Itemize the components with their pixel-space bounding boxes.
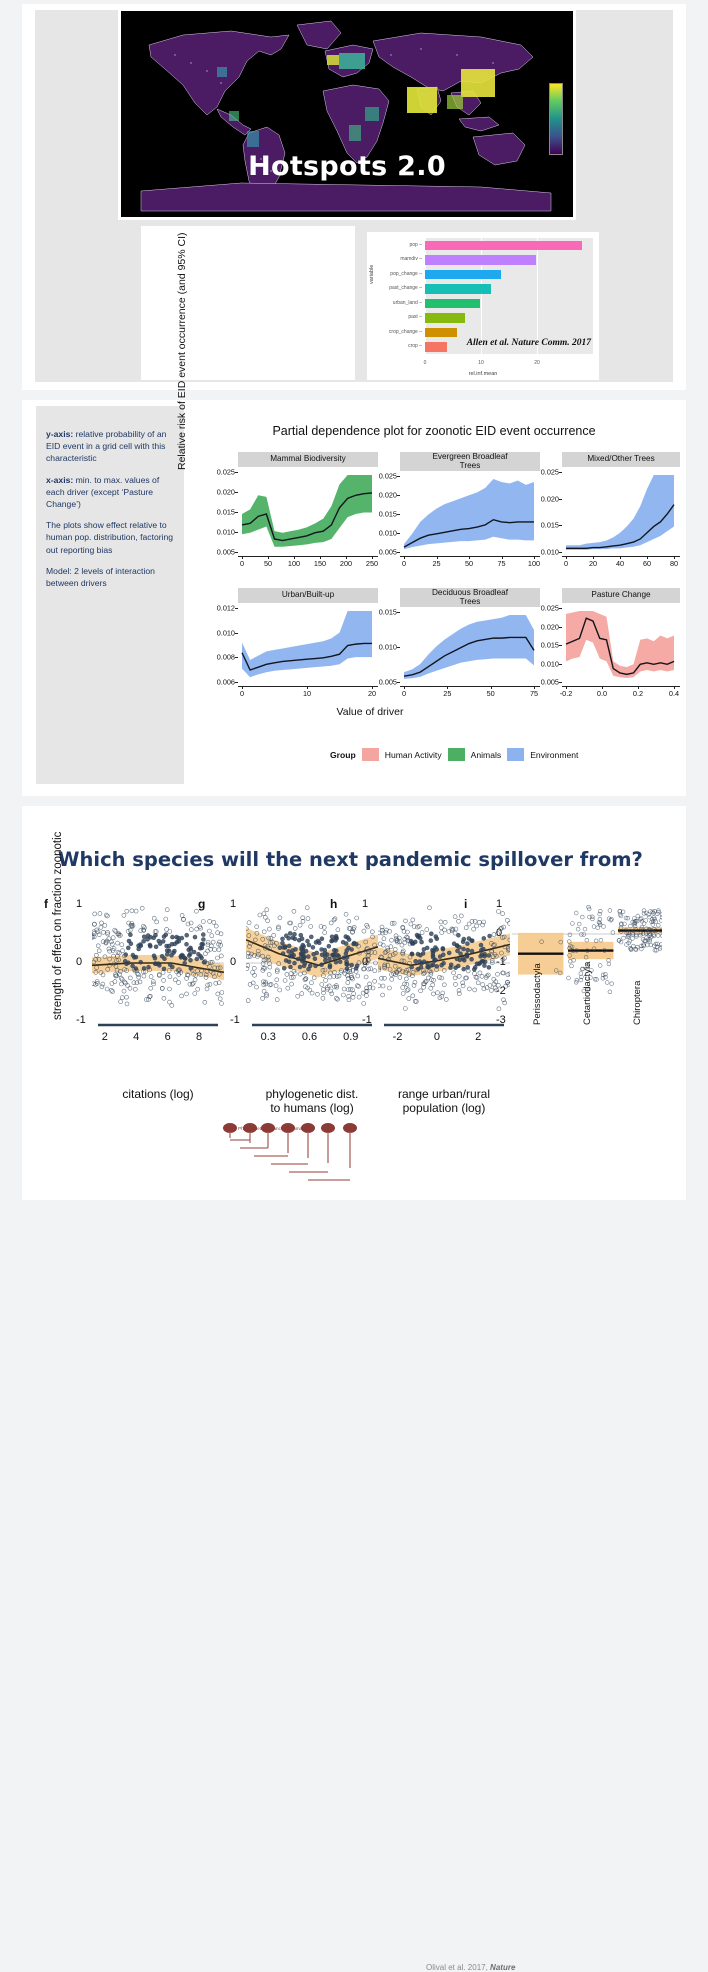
facet-curve [400,471,540,557]
bar-chart-row: past_change – [425,284,593,294]
bar-chart-plot-area: pop –mamdiv –pop_change –past_change –ur… [425,238,593,354]
facet-y-tick: 0.020 [541,622,559,631]
taxon-label: Cetartiodactyla [582,962,593,1025]
facet-y-tick: 0.010 [379,643,397,652]
facet-y-tick: 0.025 [541,604,559,613]
facet-y-tick: 0.015 [541,641,559,650]
influence-table-wrapper: relative influence (%) std. dev. populat… [141,226,355,380]
bar-chart-x-tick: 10 [478,360,484,366]
slide1-citation: Allen et al. Nature Comm. 2017 [467,338,591,348]
bar-chart-category-label: pop_change – [390,271,422,277]
panel-letter-f: f [44,897,48,911]
facet-x-tick: 80 [670,559,678,568]
facet-y-tick: 0.006 [217,678,235,687]
scatter-x-label-h: range urban/ruralpopulation (log) [364,1088,524,1116]
bar-chart-category-label: pop – [409,242,422,248]
scatter-x-tick: 6 [165,1031,171,1043]
facet-y-tick: 0.008 [217,653,235,662]
facet-strip-label: Urban/Built-up [238,588,378,603]
facet-x-tick: 0 [564,559,568,568]
bar-chart-row: urban_land – [425,299,593,309]
bar-chart-category-label: crop_change – [389,329,422,335]
bar-chart-category-label: urban_land – [393,300,422,306]
scatter-panel-f [92,905,224,1055]
scatter-y-tick: 0 [362,956,368,968]
facet-x-tick: 0 [402,559,406,568]
facet-y-tick: 0.015 [541,521,559,530]
facet-x-tick: 250 [366,559,378,568]
bar [425,299,480,309]
scatter-x-tick: 2 [102,1031,108,1043]
pdp-legend: Group Human Activity Animals Environment [330,748,578,761]
facet-y-tick: 0.005 [379,548,397,557]
bar-chart-row: pop_change – [425,270,593,280]
facet-plot-area: 0.0120.0100.0080.00601020 [238,603,378,687]
sidebar-paragraph-3: Model: 2 levels of interaction between d… [36,565,184,589]
map-colorbar [549,83,563,155]
scatter-x-tick: 0.3 [261,1031,276,1043]
bar [425,270,501,280]
facet-y-tick: 0.015 [379,608,397,617]
facet-strip-label: Mammal Biodiversity [238,452,378,467]
pdp-facet: Mixed/Other Trees0.0250.0200.0150.010020… [562,452,680,570]
legend-label-environment: Environment [530,750,578,760]
legend-swatch-human-activity [362,748,379,761]
bar [425,313,465,323]
facet-x-tick: 10 [303,689,311,698]
facet-curve [400,607,540,687]
scatter-y-tick: -1 [496,956,506,968]
pdp-title: Partial dependence plot for zoonotic EID… [184,424,684,438]
scatter-x-tick: 0.9 [343,1031,358,1043]
scatter-y-tick: 1 [362,898,368,910]
pdp-facet: Evergreen BroadleafTrees0.0250.0200.0150… [400,452,540,570]
slide3-citation: Olival et al. 2017, Nature [426,1963,515,1972]
bar-chart-y-label: variable [369,265,375,284]
bar [425,241,582,251]
sidebar-paragraph-0: y-axis: relative probability of an EID e… [36,406,184,465]
sidebar-paragraph-2: The plots show effect relative to human … [36,519,184,556]
facet-curve [238,467,378,557]
presentation-page: Hotspots 2.0 relative influence (%) std.… [0,0,708,1200]
scatter-x-tick: -2 [393,1031,403,1043]
scatter-y-tick: -1 [76,1014,86,1026]
scatter-y-tick: -1 [362,1014,372,1026]
facet-curve [238,603,378,687]
legend-label-human-activity: Human Activity [385,750,442,760]
panel-letter-g: g [198,897,205,911]
bar-chart-category-label: mamdiv – [400,256,422,262]
legend-swatch-environment [507,748,524,761]
facet-x-tick: 50 [264,559,272,568]
facet-strip-label: Deciduous BroadleafTrees [400,588,540,607]
facet-x-tick: 200 [340,559,352,568]
bar [425,342,447,352]
scatter-y-tick: 1 [496,898,502,910]
pdp-x-axis-label: Value of driver [337,706,404,718]
bar-chart-x-tick: 20 [534,360,540,366]
slide3-y-axis-label: strength of effect on fraction zoonotic [52,832,64,1020]
facet-x-tick: 100 [288,559,300,568]
facet-x-tick: 0.4 [669,689,679,698]
facet-y-tick: 0.010 [541,548,559,557]
facet-curve [562,603,680,687]
world-risk-map: Hotspots 2.0 [118,8,576,220]
scatter-x-tick: 2 [475,1031,481,1043]
facet-x-tick: 0.2 [633,689,643,698]
slide2-sidebar: y-axis: relative probability of an EID e… [36,406,184,784]
facet-x-tick: 20 [368,689,376,698]
facet-y-tick: 0.020 [379,491,397,500]
bar-chart-row: past – [425,313,593,323]
panel-letter-h: h [330,897,337,911]
facet-x-tick: 40 [616,559,624,568]
taxon-label: Perissodactyla [532,963,543,1025]
scatter-x-tick: 4 [133,1031,139,1043]
pdp-facet: Mammal Biodiversity0.0250.0200.0150.0100… [238,452,378,570]
relative-influence-bar-chart: variable pop –mamdiv –pop_change –past_c… [367,232,599,380]
bar-chart-category-label: past – [408,314,422,320]
facet-plot-area: 0.0250.0200.0150.0100.0050255075100 [400,471,540,557]
slide-hotspots: Hotspots 2.0 relative influence (%) std.… [22,4,686,390]
facet-x-tick: 75 [530,689,538,698]
facet-y-tick: 0.020 [541,494,559,503]
pdp-facet: Deciduous BroadleafTrees0.0150.0100.0050… [400,588,540,700]
facet-x-tick: 50 [465,559,473,568]
facet-x-tick: 75 [497,559,505,568]
facet-y-tick: 0.010 [379,529,397,538]
bar-chart-x-tick: 0 [424,360,427,366]
bar [425,328,457,338]
bar-chart-row: pop – [425,241,593,251]
bar [425,255,536,265]
facet-y-tick: 0.005 [217,548,235,557]
facet-y-tick: 0.025 [541,468,559,477]
bar-chart-x-label: rel.inf.mean [367,371,599,377]
facet-y-tick: 0.005 [541,678,559,687]
facet-x-tick: 25 [432,559,440,568]
facet-x-tick: 20 [589,559,597,568]
panel-letter-i: i [464,897,467,911]
facet-x-tick: 0 [402,689,406,698]
scatter-y-tick: 1 [76,898,82,910]
scatter-y-tick: 0 [496,927,502,939]
scatter-y-tick: -2 [496,985,506,997]
facet-x-tick: 0 [240,559,244,568]
scatter-y-tick: 0 [76,956,82,968]
facet-plot-area: 0.0250.0200.0150.0100.005050100150200250 [238,467,378,557]
pdp-y-axis-label: Relative risk of EID event occurrence (a… [176,232,188,470]
facet-y-tick: 0.005 [379,678,397,687]
facet-y-tick: 0.025 [217,468,235,477]
facet-x-tick: 150 [314,559,326,568]
pdp-facet: Pasture Change0.0250.0200.0150.0100.005-… [562,588,680,700]
tree-caption: Phylogenetic Distance to Humans [238,1126,307,1131]
facet-plot-area: 0.0150.0100.0050255075 [400,607,540,687]
scatter-y-tick: 1 [230,898,236,910]
pdp-facet: Urban/Built-up0.0120.0100.0080.00601020 [238,588,378,700]
facet-y-tick: 0.010 [217,628,235,637]
facet-plot-area: 0.0250.0200.0150.010020406080 [562,467,680,557]
bar-chart-category-label: crop – [408,343,422,349]
scatter-x-tick: 0.6 [302,1031,317,1043]
legend-swatch-animals [448,748,465,761]
legend-title: Group [330,750,356,760]
bar-chart-row: mamdiv – [425,255,593,265]
map-graphic [121,11,573,217]
facet-x-tick: 50 [487,689,495,698]
bar-chart-category-label: past_change – [389,285,422,291]
bar [425,284,491,294]
slide3-title: Which species will the next pandemic spi… [58,848,643,871]
scatter-y-tick: 0 [230,956,236,968]
scatter-y-tick: -3 [496,1014,506,1026]
scatter-graphic [92,905,224,1055]
facet-x-tick: 0.0 [597,689,607,698]
facet-x-tick: 100 [528,559,540,568]
map-title: Hotspots 2.0 [121,151,573,182]
facet-y-tick: 0.010 [217,528,235,537]
facet-y-tick: 0.020 [217,488,235,497]
scatter-x-tick: 0 [434,1031,440,1043]
facet-plot-area: 0.0250.0200.0150.0100.005-0.20.00.20.4 [562,603,680,687]
phylogeny-graphic [192,1122,392,1194]
facet-strip-label: Evergreen BroadleafTrees [400,452,540,471]
facet-y-tick: 0.025 [379,472,397,481]
facet-x-tick: 60 [643,559,651,568]
facet-y-tick: 0.015 [217,508,235,517]
facet-y-tick: 0.015 [379,510,397,519]
facet-y-tick: 0.010 [541,659,559,668]
legend-label-animals: Animals [471,750,502,760]
facet-x-tick: -0.2 [560,689,573,698]
facet-x-tick: 25 [443,689,451,698]
scatter-y-tick: -1 [230,1014,240,1026]
scatter-x-label-f: citations (log) [78,1088,238,1102]
facet-x-tick: 0 [240,689,244,698]
sidebar-paragraph-1: x-axis: min. to max. values of each driv… [36,474,184,511]
facet-strip-label: Mixed/Other Trees [562,452,680,467]
scatter-x-tick: 8 [196,1031,202,1043]
facet-curve [562,467,680,557]
facet-strip-label: Pasture Change [562,588,680,603]
facet-y-tick: 0.012 [217,604,235,613]
bar-chart-row: crop_change – [425,328,593,338]
taxon-label: Chiroptera [632,981,643,1025]
